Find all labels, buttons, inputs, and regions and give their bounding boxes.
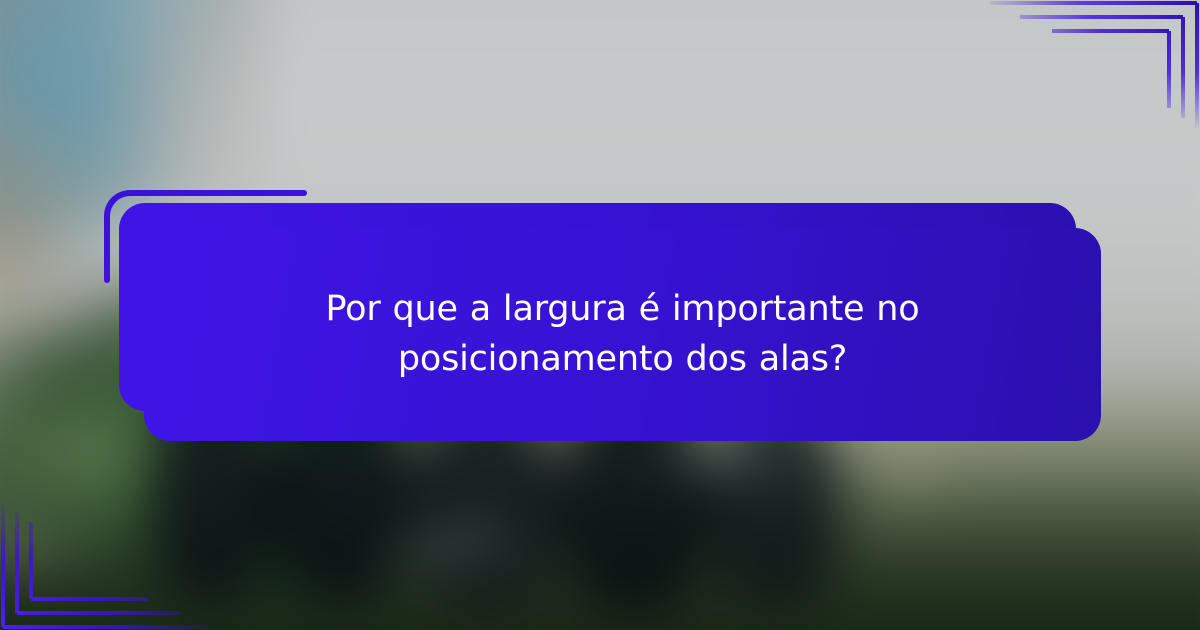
background-highlight xyxy=(870,445,960,505)
question-card: Por que a largura é importante no posici… xyxy=(144,228,1101,441)
background-highlight xyxy=(370,515,550,575)
question-card-slide: Por que a largura é importante no posici… xyxy=(0,0,1200,630)
question-text: Por que a largura é importante no posici… xyxy=(293,285,953,384)
